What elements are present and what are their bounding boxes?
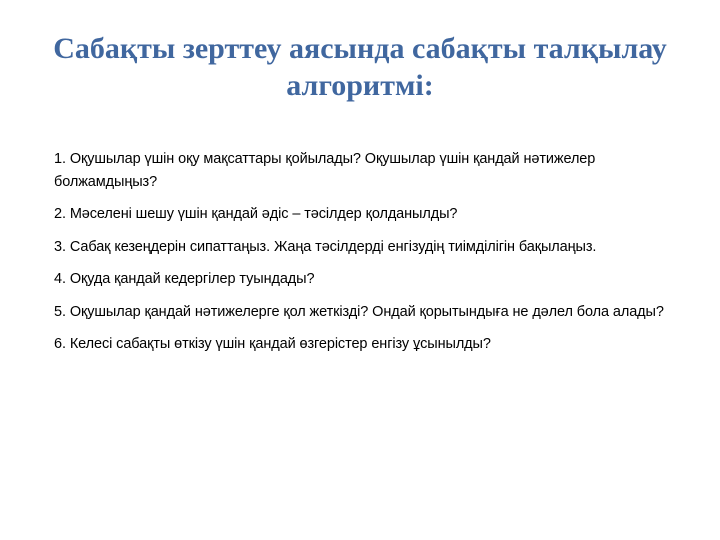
list-item: 4. Оқуда қандай кедергілер туындады? [54, 268, 678, 291]
list-item: 6. Келесі сабақты өткізу үшін қандай өзг… [54, 333, 678, 356]
list-item: 3. Сабақ кезеңдерін сипаттаңыз. Жаңа тәс… [54, 236, 678, 259]
list-item: 1. Оқушылар үшін оқу мақсаттары қойылады… [54, 148, 678, 193]
list-item: 2. Мәселені шешу үшін қандай әдіс – тәсі… [54, 203, 678, 226]
list-item: 5. Оқушылар қандай нәтижелерге қол жеткі… [54, 301, 678, 324]
slide-canvas: Сабақты зерттеу аясында сабақты талқылау… [0, 0, 720, 540]
question-list: 1. Оқушылар үшін оқу мақсаттары қойылады… [54, 148, 678, 356]
page-title: Сабақты зерттеу аясында сабақты талқылау… [40, 30, 680, 104]
